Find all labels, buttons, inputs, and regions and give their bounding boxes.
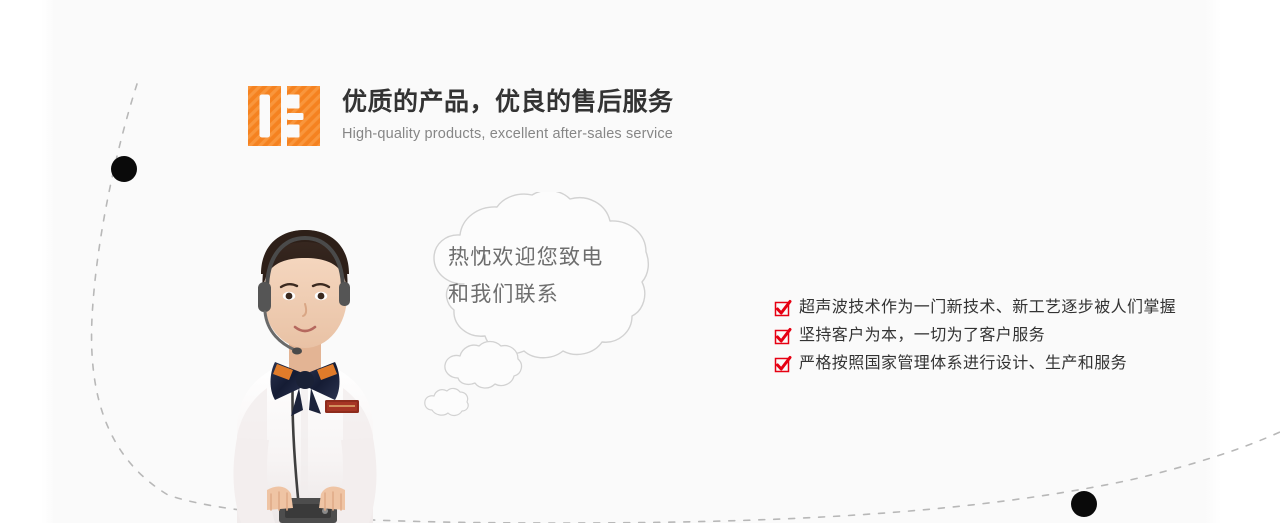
promo-banner: 优质的产品，优良的售后服务 High-quality products, exc… xyxy=(0,0,1280,523)
speech-bubble-line-2: 和我们联系 xyxy=(448,277,658,314)
path-dot-top xyxy=(111,156,137,182)
list-item-label: 坚持客户为本，一切为了客户服务 xyxy=(799,328,1045,344)
checkmark-icon xyxy=(775,330,788,343)
cloud-tail-medium xyxy=(445,342,522,389)
list-item: 严格按照国家管理体系进行设计、生产和服务 xyxy=(775,356,1176,372)
checkmark-icon xyxy=(775,302,788,315)
speech-bubble-text: 热忱欢迎您致电 和我们联系 xyxy=(448,240,658,314)
section-heading: 优质的产品，优良的售后服务 High-quality products, exc… xyxy=(248,86,674,146)
speech-bubble-line-1: 热忱欢迎您致电 xyxy=(448,240,658,277)
feature-list: 超声波技术作为一门新技术、新工艺逐步被人们掌握 坚持客户为本，一切为了客户服务 … xyxy=(775,300,1176,372)
list-item-label: 超声波技术作为一门新技术、新工艺逐步被人们掌握 xyxy=(799,300,1176,316)
heading-text-block: 优质的产品，优良的售后服务 High-quality products, exc… xyxy=(342,86,674,142)
cloud-tail-small xyxy=(425,388,468,415)
badge-digit-zero xyxy=(248,86,281,146)
list-item-label: 严格按照国家管理体系进行设计、生产和服务 xyxy=(799,356,1127,372)
path-dot-bottom xyxy=(1071,491,1097,517)
section-number-badge xyxy=(248,86,320,146)
page-title: 优质的产品，优良的售后服务 xyxy=(342,88,674,117)
list-item: 超声波技术作为一门新技术、新工艺逐步被人们掌握 xyxy=(775,300,1176,316)
page-subtitle: High-quality products, excellent after-s… xyxy=(342,126,674,142)
list-item: 坚持客户为本，一切为了客户服务 xyxy=(775,328,1176,344)
badge-digit-three xyxy=(287,86,320,146)
checkmark-icon xyxy=(775,358,788,371)
speech-bubble: 热忱欢迎您致电 和我们联系 xyxy=(396,192,696,432)
